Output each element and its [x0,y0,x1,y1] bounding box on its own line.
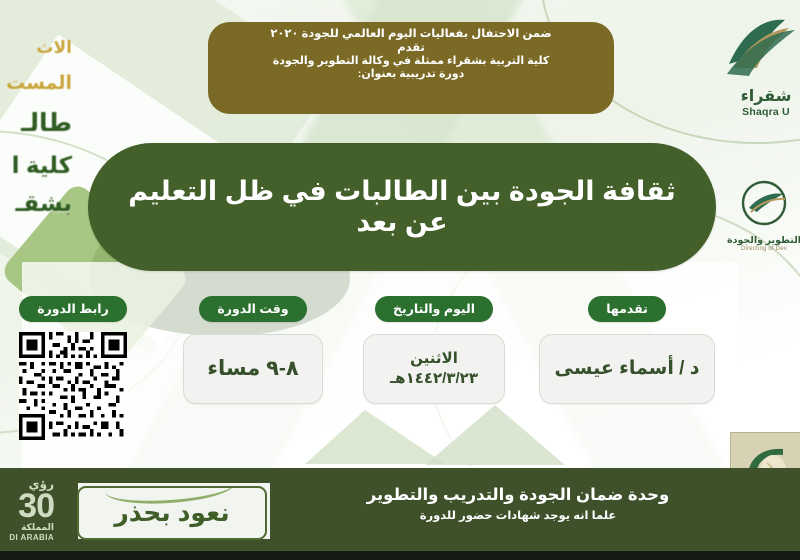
footer-text-block: وحدة ضمان الجودة والتدريب والتطوير علما … [318,485,718,522]
label-presenter: تقدمها [588,296,666,322]
label-course-time: وقت الدورة [199,296,306,322]
header-line-1: ضمن الاحتفال بفعاليات اليوم العالمي للجو… [208,28,614,42]
header-line-4: دورة تدريبية بعنوان: [208,68,614,81]
label-day-and-date: اليوم والتاريخ [375,296,493,322]
left-bleed-line-3: طالـ [21,108,72,138]
left-bleed-line-5: بشقـ [16,190,72,217]
left-bleed-line-1: الاث [36,38,72,58]
qr-code-wrap[interactable] [8,332,138,440]
info-block-presenter: تقدمها د / أسماء عيسى [534,296,720,404]
logo-naoud-bihathar: نعود بحذر [78,483,270,539]
label-course-link: رابط الدورة [19,296,127,322]
logo-quality-agency: التطوير والجودة Directing of Dev [718,178,800,252]
header-line-3: كلية التربية بشقراء ممثلة في وكالة التطو… [208,55,614,68]
header-line-2: تقدم [208,42,614,56]
left-bleed-line-2: المست [6,72,72,95]
vision-number: 30 [0,491,54,522]
info-row: رابط الدورة [0,296,800,431]
shaqra-university-icon [723,16,800,80]
value-date: ١٤٤٢/٣/٢٣هـ [390,369,478,389]
quality-agency-icon [735,178,793,228]
left-edge-bleed-artwork: الاث المست طالـ كلية ا بشقـ [0,0,74,250]
vision-english-label: DI ARABIA [0,533,54,542]
info-block-course-time: وقت الدورة ٨-٩ مساء [178,296,328,404]
footer-sub-line: علما انه يوجد شهادات حضور للدورة [318,508,718,522]
quality-english-label: Directing of Dev [718,246,800,252]
vision-arabic-label: المملكة [0,522,54,533]
footer-bottom-strip [0,551,800,560]
qr-code-icon[interactable] [19,332,127,440]
value-day: الاثنين [410,349,458,369]
value-presenter: د / أسماء عيسى [539,334,715,404]
shaqra-arabic-label: شقراء [718,86,800,106]
logo-vision-2030: رؤي 30 المملكة DI ARABIA [0,477,54,551]
shaqra-english-label: Shaqra U [718,106,800,118]
info-block-course-link: رابط الدورة [8,296,138,440]
left-bleed-line-4: كلية ا [12,152,72,179]
header-banner: ضمن الاحتفال بفعاليات اليوم العالمي للجو… [208,22,614,114]
footer-main-line: وحدة ضمان الجودة والتدريب والتطوير [318,485,718,505]
page-title: ثقافة الجودة بين الطالبات في ظل التعليم … [88,176,716,238]
info-block-day-and-date: اليوم والتاريخ الاثنين ١٤٤٢/٣/٢٣هـ [358,296,510,404]
logo-shaqra-university: شقراء Shaqra U [718,16,800,118]
poster-canvas: الاث المست طالـ كلية ا بشقـ ضمن الاحتفال… [0,0,800,560]
value-day-and-date: الاثنين ١٤٤٢/٣/٢٣هـ [363,334,505,404]
naoud-badge-frame: نعود بحذر [77,486,267,540]
quality-arabic-label: التطوير والجودة [718,235,800,246]
value-course-time: ٨-٩ مساء [183,334,323,404]
course-title-pill: ثقافة الجودة بين الطالبات في ظل التعليم … [88,143,716,271]
